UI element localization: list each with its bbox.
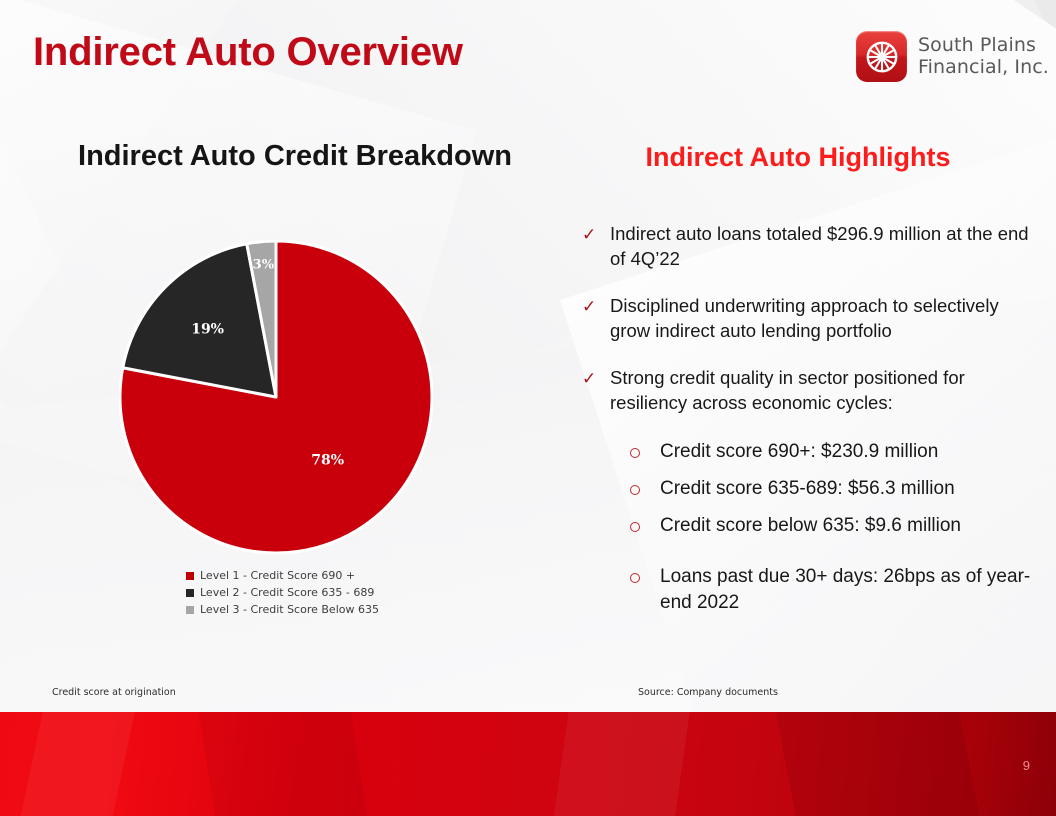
list-item: ✓ Indirect auto loans totaled $296.9 mil… xyxy=(582,222,1034,271)
legend-label: Level 3 - Credit Score Below 635 xyxy=(200,603,379,618)
legend-item: Level 2 - Credit Score 635 - 689 xyxy=(186,586,379,601)
pie-slice-label: 3% xyxy=(253,257,275,272)
wagon-wheel-icon xyxy=(856,31,907,82)
legend-swatch-icon xyxy=(186,572,194,580)
check-icon: ✓ xyxy=(582,294,610,319)
page-title: Indirect Auto Overview xyxy=(33,30,463,75)
legend-item: Level 3 - Credit Score Below 635 xyxy=(186,603,379,618)
company-logo: South Plains Financial, Inc. xyxy=(856,31,1049,82)
subbullet-text: Credit score 635-689: $56.3 million xyxy=(660,476,955,501)
slide: Indirect Auto Overview xyxy=(0,0,1056,816)
bullet-text: Indirect auto loans totaled $296.9 milli… xyxy=(610,222,1034,271)
subbullet-text: Credit score 690+: $230.9 million xyxy=(660,439,938,464)
logo-wordmark: South Plains Financial, Inc. xyxy=(918,35,1049,78)
subbullet-text: Credit score below 635: $9.6 million xyxy=(660,513,961,538)
pie-slice-label: 19% xyxy=(191,322,224,338)
chart-legend: Level 1 - Credit Score 690 + Level 2 - C… xyxy=(186,569,379,618)
pie-slice-label: 78% xyxy=(311,453,344,469)
highlights-sublist: Credit score 690+: $230.9 million Credit… xyxy=(630,439,1034,615)
chart-heading: Indirect Auto Credit Breakdown xyxy=(55,140,535,173)
legend-label: Level 1 - Credit Score 690 + xyxy=(200,569,355,584)
logo-line-2: Financial, Inc. xyxy=(918,57,1049,78)
highlights-list: ✓ Indirect auto loans totaled $296.9 mil… xyxy=(582,222,1034,627)
footer-band: 9 xyxy=(0,712,1056,816)
circle-outline-icon xyxy=(630,564,660,583)
check-icon: ✓ xyxy=(582,222,610,247)
footer-streak xyxy=(194,712,375,816)
list-item: Credit score 690+: $230.9 million xyxy=(630,439,1034,464)
list-item: ✓ Disciplined underwriting approach to s… xyxy=(582,294,1034,343)
highlights-heading: Indirect Auto Highlights xyxy=(596,142,1000,173)
bullet-text: Disciplined underwriting approach to sel… xyxy=(610,294,1034,343)
page-number: 9 xyxy=(1023,758,1030,773)
circle-outline-icon xyxy=(630,513,660,532)
bullet-text: Strong credit quality in sector position… xyxy=(610,366,1034,415)
source-footnote: Source: Company documents xyxy=(638,687,778,698)
chart-footnote: Credit score at origination xyxy=(52,687,176,698)
check-icon: ✓ xyxy=(582,366,610,391)
legend-label: Level 2 - Credit Score 635 - 689 xyxy=(200,586,374,601)
list-item: Credit score 635-689: $56.3 million xyxy=(630,476,1034,501)
footer-streak xyxy=(772,712,989,816)
legend-item: Level 1 - Credit Score 690 + xyxy=(186,569,379,584)
list-item: Credit score below 635: $9.6 million xyxy=(630,513,1034,538)
subbullet-text: Loans past due 30+ days: 26bps as of yea… xyxy=(660,564,1034,615)
circle-outline-icon xyxy=(630,476,660,495)
list-item: Loans past due 30+ days: 26bps as of yea… xyxy=(630,564,1034,615)
legend-swatch-icon xyxy=(186,589,194,597)
pie-chart: 78%19%3% xyxy=(119,240,433,554)
logo-line-1: South Plains xyxy=(918,35,1049,56)
circle-outline-icon xyxy=(630,439,660,458)
footer-streak xyxy=(546,712,694,816)
legend-swatch-icon xyxy=(186,606,194,614)
footer-streak xyxy=(9,712,141,816)
list-item: ✓ Strong credit quality in sector positi… xyxy=(582,366,1034,415)
